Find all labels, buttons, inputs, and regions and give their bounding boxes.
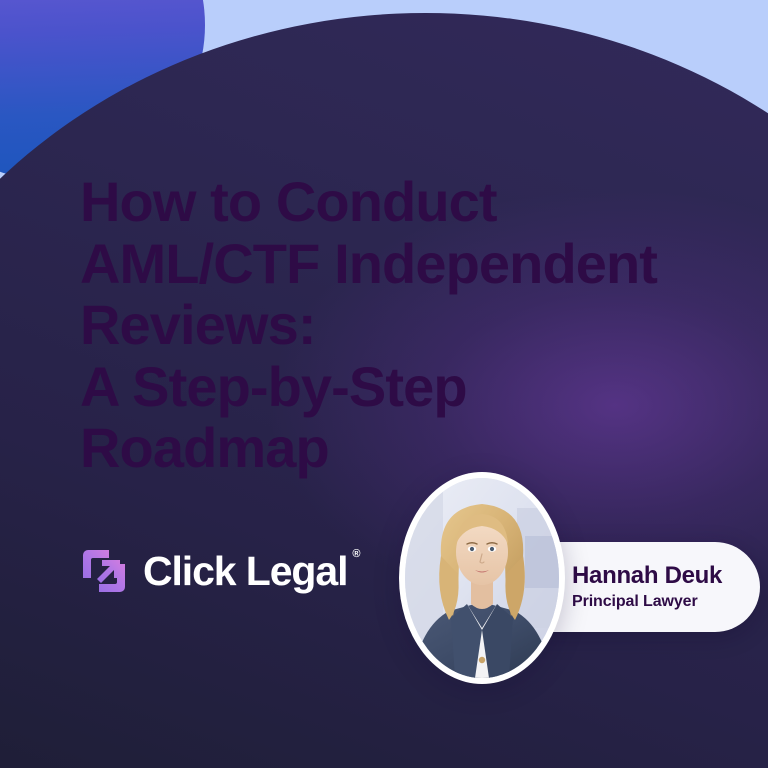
speaker-name: Hannah Deuk	[572, 563, 760, 590]
registered-trademark-icon: ®	[352, 549, 359, 560]
external-link-square-icon	[79, 546, 129, 596]
speaker-role: Principal Lawyer	[572, 592, 760, 611]
page-title: How to Conduct AML/CTF Independent Revie…	[80, 171, 720, 479]
avatar	[399, 472, 565, 684]
avatar-image	[405, 478, 559, 678]
brand-name-text: Click Legal	[143, 548, 347, 594]
brand-logo[interactable]: Click Legal ®	[79, 546, 347, 596]
promo-card: How to Conduct AML/CTF Independent Revie…	[0, 0, 768, 768]
headshot-illustration	[405, 478, 559, 678]
brand-name: Click Legal ®	[143, 551, 347, 592]
